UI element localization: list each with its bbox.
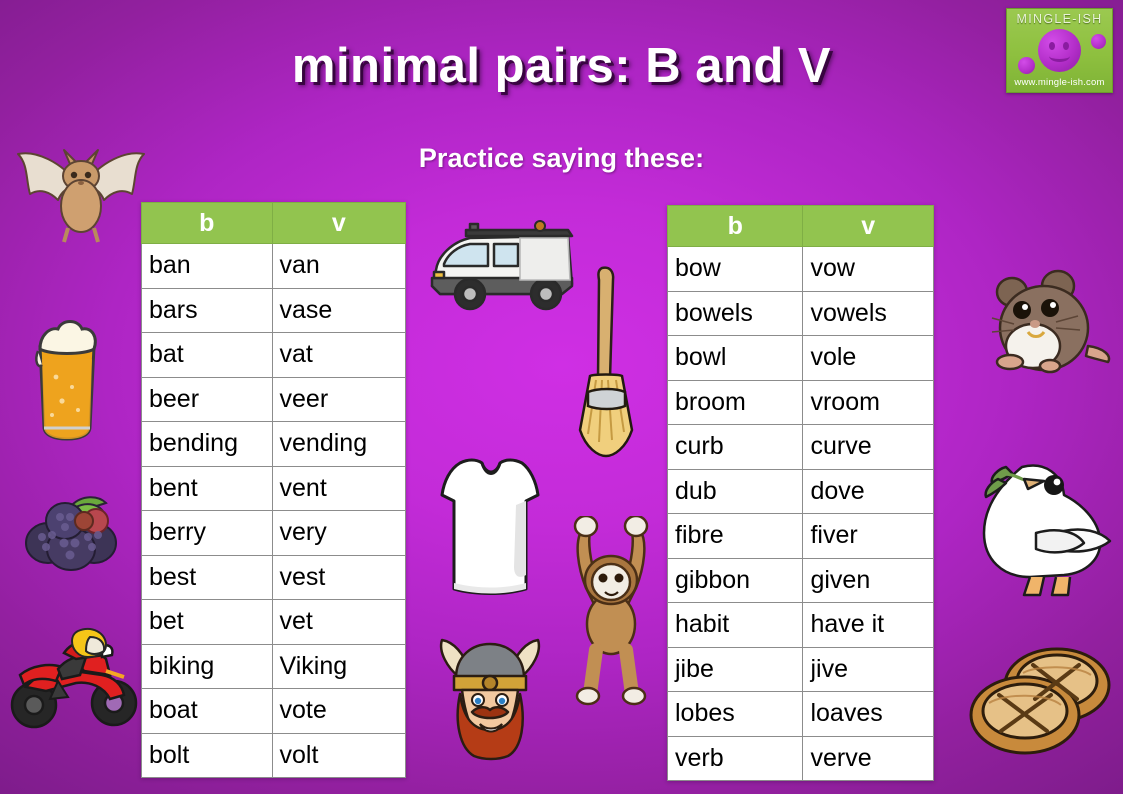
word-cell-v: volt — [272, 733, 405, 778]
word-cell-b: biking — [142, 644, 273, 689]
word-cell-v: vest — [272, 555, 405, 600]
word-cell-b: bending — [142, 422, 273, 467]
smiley-face-icon — [1038, 29, 1081, 72]
word-cell-v: jive — [803, 647, 934, 692]
word-cell-v: vowels — [803, 291, 934, 336]
table-row: boltvolt — [142, 733, 406, 778]
poster-canvas: minimal pairs: B and V Practice saying t… — [0, 0, 1123, 794]
word-cell-b: best — [142, 555, 273, 600]
word-cell-b: verb — [668, 736, 803, 781]
word-cell-b: bowl — [668, 336, 803, 381]
table-row: batvat — [142, 333, 406, 378]
word-cell-b: fibre — [668, 514, 803, 559]
table-row: banvan — [142, 244, 406, 289]
motorcycle-illustration — [6, 625, 146, 735]
gibbon-illustration — [556, 516, 666, 706]
word-cell-v: have it — [803, 603, 934, 648]
word-cell-b: bat — [142, 333, 273, 378]
page-subtitle: Practice saying these: — [0, 143, 1123, 174]
table-row: boatvote — [142, 689, 406, 734]
word-cell-b: beer — [142, 377, 273, 422]
table-row: barsvase — [142, 288, 406, 333]
beer-glass-illustration — [28, 315, 106, 443]
table-row: gibbongiven — [668, 558, 934, 603]
word-cell-v: veer — [272, 377, 405, 422]
word-cell-v: vroom — [803, 380, 934, 425]
word-cell-b: habit — [668, 603, 803, 648]
van-illustration — [422, 218, 588, 318]
word-cell-v: vat — [272, 333, 405, 378]
word-cell-v: very — [272, 511, 405, 556]
table-header-row: b v — [668, 206, 934, 247]
table-row: bentvent — [142, 466, 406, 511]
logo-website-url: www.mingle-ish.com — [1007, 77, 1112, 88]
vole-illustration — [988, 262, 1114, 378]
word-cell-b: bow — [668, 247, 803, 292]
logo-wordmark: MINGLE-ISH — [1007, 12, 1112, 26]
word-cell-b: curb — [668, 425, 803, 470]
word-cell-b: dub — [668, 469, 803, 514]
word-cell-v: dove — [803, 469, 934, 514]
table-row: bikingViking — [142, 644, 406, 689]
word-cell-b: bowels — [668, 291, 803, 336]
column-header-v: v — [272, 203, 405, 244]
table-row: fibrefiver — [668, 514, 934, 559]
table-row: habithave it — [668, 603, 934, 648]
table-row: bowvow — [668, 247, 934, 292]
word-cell-v: given — [803, 558, 934, 603]
word-cell-b: bent — [142, 466, 273, 511]
word-cell-v: vote — [272, 689, 405, 734]
column-header-b: b — [142, 203, 273, 244]
viking-illustration — [420, 630, 560, 762]
word-cell-b: bars — [142, 288, 273, 333]
minimal-pairs-table-right: b v bowvowbowelsvowelsbowlvolebroomvroom… — [667, 205, 934, 781]
table-row: verbverve — [668, 736, 934, 781]
smiley-left-eye — [1049, 42, 1055, 50]
word-cell-v: vet — [272, 600, 405, 645]
smiley-mouth — [1049, 50, 1070, 62]
table-row: lobesloaves — [668, 692, 934, 737]
table-row: berryvery — [142, 511, 406, 556]
word-cell-b: bet — [142, 600, 273, 645]
table-row: beerveer — [142, 377, 406, 422]
table-row: broomvroom — [668, 380, 934, 425]
word-cell-v: loaves — [803, 692, 934, 737]
word-cell-v: Viking — [272, 644, 405, 689]
berries-illustration — [18, 485, 126, 577]
table-row: bendingvending — [142, 422, 406, 467]
bat-illustration — [6, 136, 156, 246]
table-row: jibejive — [668, 647, 934, 692]
vest-illustration — [434, 455, 546, 605]
mingle-ish-logo[interactable]: MINGLE-ISH www.mingle-ish.com — [1006, 8, 1113, 93]
word-cell-v: vase — [272, 288, 405, 333]
column-header-b: b — [668, 206, 803, 247]
word-cell-b: gibbon — [668, 558, 803, 603]
word-cell-v: van — [272, 244, 405, 289]
minimal-pairs-table-left: b v banvanbarsvasebatvatbeerveerbendingv… — [141, 202, 406, 778]
table-row: bowlvole — [668, 336, 934, 381]
logo-bubble-small-left — [1018, 57, 1035, 74]
broom-illustration — [572, 262, 642, 462]
word-cell-v: curve — [803, 425, 934, 470]
smiley-right-eye — [1063, 42, 1069, 50]
page-title: minimal pairs: B and V — [0, 38, 1123, 94]
word-cell-v: vole — [803, 336, 934, 381]
logo-bubble-small-right — [1091, 34, 1106, 49]
dove-illustration — [960, 455, 1116, 605]
table-row: betvet — [142, 600, 406, 645]
loaves-illustration — [965, 637, 1117, 761]
word-cell-b: bolt — [142, 733, 273, 778]
table-row: bowelsvowels — [668, 291, 934, 336]
word-cell-b: broom — [668, 380, 803, 425]
word-cell-b: boat — [142, 689, 273, 734]
word-cell-v: vending — [272, 422, 405, 467]
column-header-v: v — [803, 206, 934, 247]
table-row: dubdove — [668, 469, 934, 514]
table-row: curbcurve — [668, 425, 934, 470]
word-cell-v: vow — [803, 247, 934, 292]
word-cell-v: vent — [272, 466, 405, 511]
word-cell-b: ban — [142, 244, 273, 289]
word-cell-v: fiver — [803, 514, 934, 559]
word-cell-b: jibe — [668, 647, 803, 692]
word-cell-v: verve — [803, 736, 934, 781]
table-header-row: b v — [142, 203, 406, 244]
table-row: bestvest — [142, 555, 406, 600]
word-cell-b: berry — [142, 511, 273, 556]
word-cell-b: lobes — [668, 692, 803, 737]
